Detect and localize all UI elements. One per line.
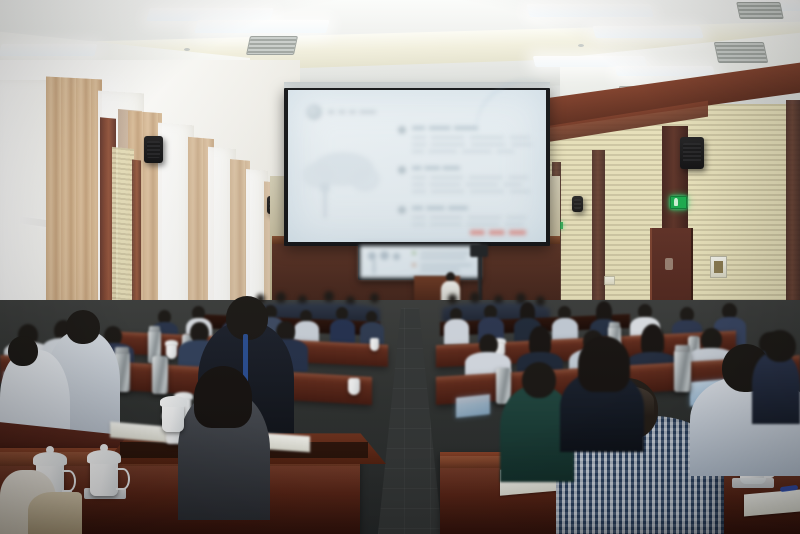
lidded-tea-mug <box>348 378 360 395</box>
thermos-cap <box>115 347 129 354</box>
smoke-detector <box>578 44 584 47</box>
display-bullet <box>412 263 416 267</box>
mug-handle <box>116 468 130 490</box>
attendee-body <box>752 352 800 424</box>
cloud-connector-plug <box>320 183 330 192</box>
wall-outlet <box>604 276 615 285</box>
slide-bullet-marker <box>398 206 406 214</box>
display-graphic <box>373 260 375 274</box>
slide-bullet-3-line <box>412 223 524 226</box>
ceiling-light-panel <box>0 44 97 56</box>
display-text-line <box>420 257 466 259</box>
cloud-diagram-graphic <box>350 166 380 192</box>
exit-sign <box>670 196 687 209</box>
smoke-detector <box>184 48 190 51</box>
slide-bullet-2-line <box>412 190 530 193</box>
lidded-tea-mug <box>90 460 118 496</box>
slide-bullet-3-line <box>412 216 526 219</box>
attendee-head <box>8 336 38 366</box>
presentation-slide <box>288 90 546 242</box>
camera-head <box>470 244 488 257</box>
slide-bullet-2 <box>412 166 460 170</box>
thermos-flask <box>152 356 168 394</box>
slide-bullet-1-line <box>412 136 530 139</box>
ceiling-light-panel <box>592 26 703 38</box>
attendee-arm <box>28 492 82 534</box>
wall-speaker <box>144 136 163 163</box>
display-bullet <box>412 251 416 255</box>
exit-figure-icon <box>674 198 678 206</box>
thermos-flask <box>674 350 691 392</box>
display-text-line <box>420 269 460 271</box>
laptop <box>456 394 490 418</box>
slide-logo-mark <box>306 104 322 120</box>
cloud-diagram-graphic <box>302 162 336 188</box>
attendee-head <box>578 336 630 392</box>
attendee-head <box>764 330 796 362</box>
hvac-vent <box>714 42 768 63</box>
slide-bullet-2-line <box>412 183 522 186</box>
wall-speaker <box>680 137 704 169</box>
display-graphic <box>380 251 389 260</box>
slide-bullet-2-line <box>412 176 528 179</box>
hvac-vent <box>736 2 784 19</box>
ceiling-light-panel <box>194 20 330 33</box>
hvac-vent <box>246 36 298 55</box>
slide-bullet-marker <box>398 126 406 134</box>
wood-column <box>592 150 605 320</box>
wall-control-plate <box>710 256 727 278</box>
mug-lid <box>160 396 187 407</box>
wall-speaker <box>572 196 583 212</box>
slide-bullet-1-line <box>412 150 514 153</box>
mug-handle <box>62 470 76 492</box>
display-graphic <box>368 252 376 260</box>
ceiling-light-panel <box>615 66 715 76</box>
mug-lid-knob <box>100 444 108 452</box>
display-graphic <box>393 253 400 260</box>
thermos-cap <box>675 345 690 352</box>
mug-coaster <box>732 478 774 488</box>
attendee-head <box>194 366 252 428</box>
display-text-line <box>420 252 470 254</box>
slide-bullet-3 <box>412 206 468 210</box>
ceiling-light-panel <box>526 4 654 17</box>
lidded-tea-mug <box>370 338 379 351</box>
podium-display-screen <box>360 246 480 278</box>
lidded-tea-mug <box>162 404 184 432</box>
slide-bullet-marker <box>398 166 406 174</box>
door-vision-panel <box>665 258 673 270</box>
mug-lid-knob <box>46 446 54 454</box>
slide-title-text <box>328 110 376 114</box>
attendee-head <box>66 310 100 344</box>
lecture-hall-photo <box>0 0 800 534</box>
slide-red-footer-text <box>470 230 526 235</box>
slide-bullet-1 <box>412 126 478 130</box>
slide-bullet-1-line <box>412 143 532 146</box>
display-text-line <box>420 264 472 266</box>
attendee-head <box>522 362 556 398</box>
mug-lid <box>33 452 67 466</box>
mug-lid <box>87 450 121 464</box>
